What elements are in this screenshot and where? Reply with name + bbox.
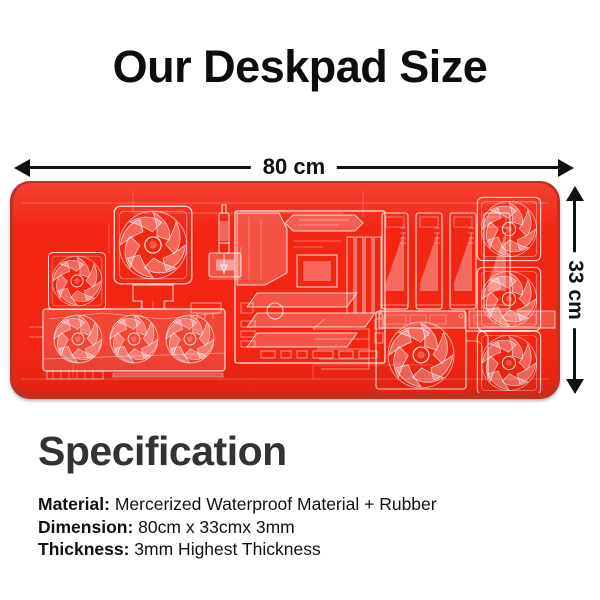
- spec-label-material: Material:: [38, 494, 110, 514]
- width-label: 80 cm: [251, 152, 337, 182]
- spec-row-material: Material: Mercerized Waterproof Material…: [38, 493, 578, 516]
- height-label: 33 cm: [564, 252, 586, 328]
- spec-value-thickness: 3mm Highest Thickness: [129, 539, 320, 559]
- deskpad-line-art: [13, 183, 557, 393]
- spec-label-thickness: Thickness:: [38, 539, 129, 559]
- deskpad-product-image: [10, 181, 560, 399]
- arrowhead-left-icon: [14, 159, 30, 177]
- specification-list: Material: Mercerized Waterproof Material…: [38, 493, 578, 561]
- spec-label-dimension: Dimension:: [38, 517, 133, 537]
- width-dimension-arrow: 80 cm: [14, 152, 574, 182]
- page-title: Our Deskpad Size: [0, 44, 600, 89]
- arrowhead-up-icon: [566, 186, 584, 201]
- height-dimension-arrow: 33 cm: [564, 186, 586, 394]
- deskpad-surface: [13, 183, 557, 393]
- arrowhead-right-icon: [558, 159, 574, 177]
- arrowhead-down-icon: [566, 379, 584, 394]
- spec-value-dimension: 80cm x 33cmx 3mm: [133, 517, 294, 537]
- infographic-page: Our Deskpad Size 80 cm 33 cm: [0, 0, 600, 600]
- spec-row-dimension: Dimension: 80cm x 33cmx 3mm: [38, 516, 578, 539]
- spec-row-thickness: Thickness: 3mm Highest Thickness: [38, 538, 578, 561]
- specification-heading: Specification: [38, 428, 287, 475]
- spec-value-material: Mercerized Waterproof Material + Rubber: [110, 494, 437, 514]
